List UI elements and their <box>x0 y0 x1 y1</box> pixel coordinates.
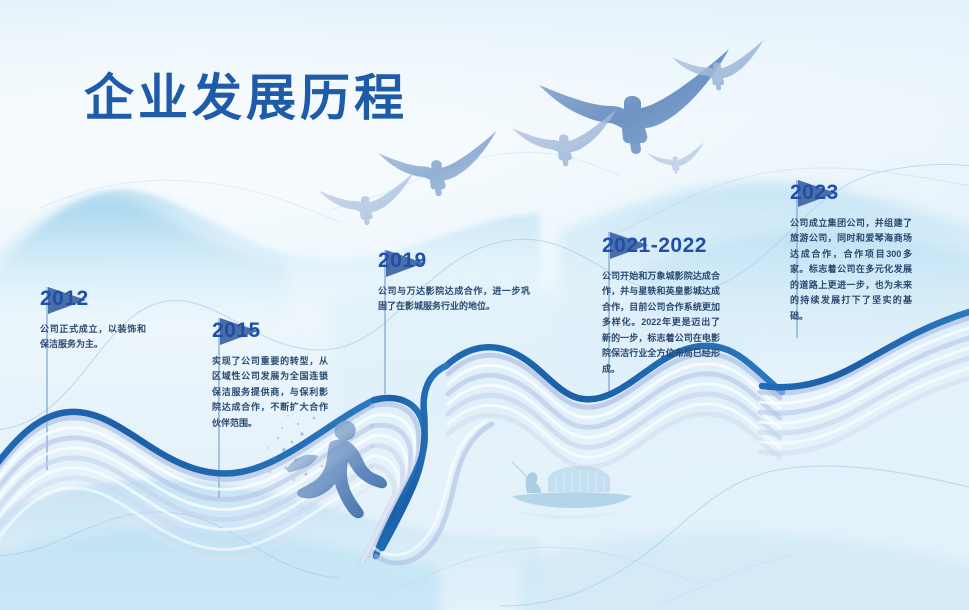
bird-icon <box>539 49 729 154</box>
page-title: 企业发展历程 <box>84 58 408 130</box>
bird-icon <box>319 173 414 226</box>
milestone-description-2012: 公司正式成立，以装饰和保洁服务为主。 <box>40 322 146 353</box>
milestone-description-2021-2022: 公司开始和万象城影院达成合作，并与星轶和英皇影城达成合作，目前公司合作系统更加多… <box>602 269 720 377</box>
milestone-description-2015: 实现了公司重要的转型，从区域性公司发展为全国连锁保洁服务提供商，与保利影院达成合… <box>212 354 328 431</box>
milestone-2021-2022[interactable]: 2021-2022 公司开始和万象城影院达成合作，并与星轶和英皇影城达成合作，目… <box>602 235 732 377</box>
bird-icon <box>647 142 704 174</box>
milestone-year-2015: 2015 <box>212 320 342 341</box>
milestone-year-2021-2022: 2021-2022 <box>602 235 732 256</box>
milestone-2023[interactable]: 2023 公司成立集团公司，并组建了旅游公司，同时和爱琴海商场达成合作，合作项目… <box>790 182 925 324</box>
bird-icon <box>672 40 763 90</box>
milestone-2015[interactable]: 2015 实现了公司重要的转型，从区域性公司发展为全国连锁保洁服务提供商，与保利… <box>212 320 342 431</box>
milestone-2019[interactable]: 2019 公司与万达影院达成合作，进一步巩固了在影城服务行业的地位。 <box>378 250 538 315</box>
milestone-2012[interactable]: 2012 公司正式成立，以装饰和保洁服务为主。 <box>40 288 160 353</box>
bird-icon <box>512 109 617 167</box>
milestone-description-2019: 公司与万达影院达成合作，进一步巩固了在影城服务行业的地位。 <box>378 284 530 315</box>
milestone-year-2019: 2019 <box>378 250 538 271</box>
infographic-canvas: 企业发展历程 2012 公司正式成立，以装饰和保洁服务为主。 2015 实现了公… <box>0 0 969 610</box>
milestone-description-2023: 公司成立集团公司，并组建了旅游公司，同时和爱琴海商场达成合作，合作项目300多家… <box>790 216 912 324</box>
milestone-year-2023: 2023 <box>790 182 925 203</box>
bird-icon <box>379 131 497 196</box>
milestone-year-2012: 2012 <box>40 288 160 309</box>
